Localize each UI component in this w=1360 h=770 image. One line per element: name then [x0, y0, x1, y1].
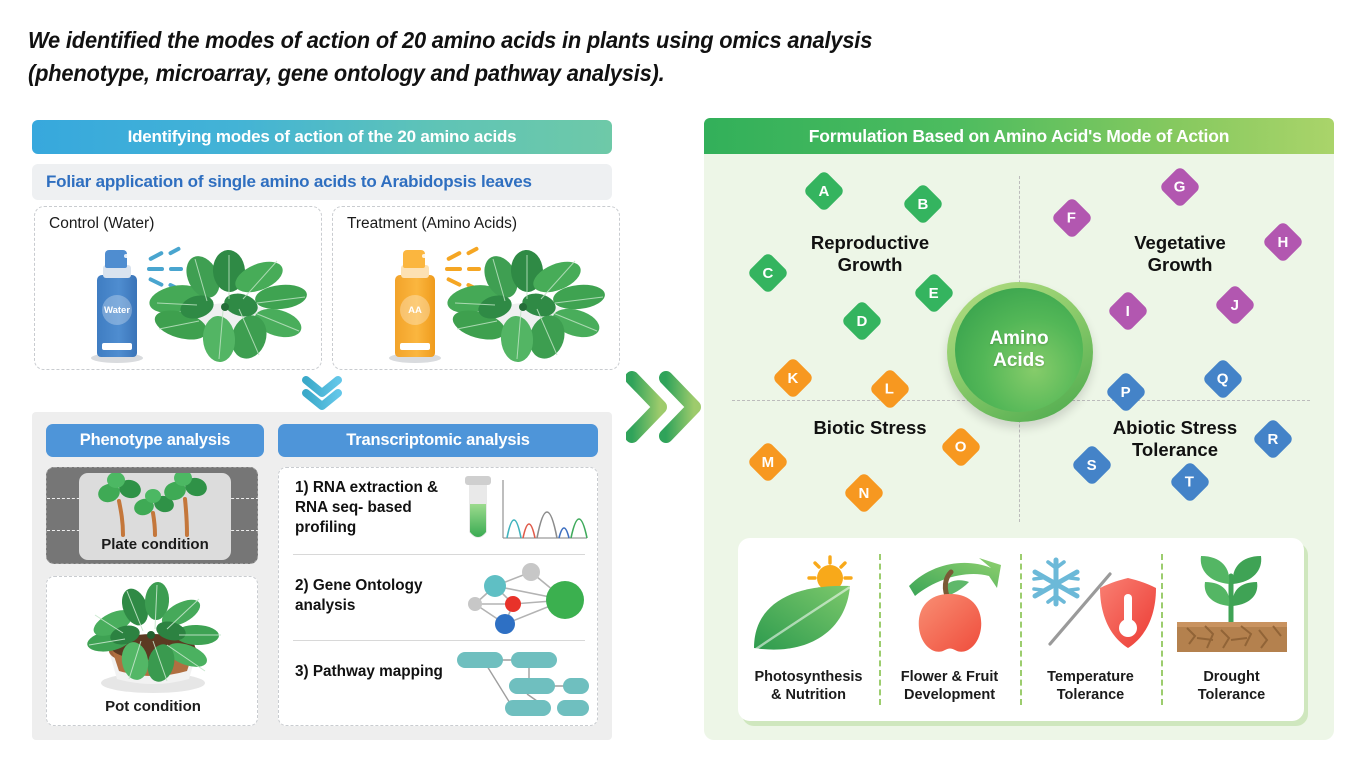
transcriptomic-step-1-label: 1) RNA extraction & RNA seq- based profi…	[295, 478, 460, 538]
pot-condition-caption: Pot condition	[47, 698, 259, 715]
pathway-map-icon	[451, 646, 591, 720]
core-label-line2: Acids	[989, 350, 1048, 372]
benefit-temperature-tolerance: Temperature Tolerance	[1020, 538, 1161, 721]
right-panel-header: Formulation Based on Amino Acid's Mode o…	[704, 118, 1334, 154]
experiment-label-treatment: Treatment (Amino Acids)	[347, 215, 517, 233]
transcriptomic-step-3: 3) Pathway mapping	[279, 640, 599, 724]
benefits-card: Photosynthesis & Nutrition	[738, 538, 1304, 721]
plant-cracked-soil-icon	[1161, 552, 1302, 660]
quadrant-label-biotic-stress: Biotic Stress	[790, 417, 950, 439]
petri-plate: Plate condition	[79, 473, 231, 560]
experiment-card-control: Control (Water) Water	[34, 206, 322, 370]
snowflake-thermometer-shield-icon	[1020, 552, 1161, 660]
pot-condition-card: Pot condition	[46, 576, 258, 726]
amino-acids-core: Amino Acids	[955, 288, 1083, 412]
quadrant-label-reproductive-growth: Reproductive Growth	[790, 232, 950, 276]
transcriptomic-analysis-title: Transcriptomic analysis	[278, 424, 598, 457]
left-panel-subheader: Foliar application of single amino acids…	[32, 164, 612, 200]
page-title: We identified the modes of action of 20 …	[28, 24, 958, 91]
plate-condition-card: Plate condition	[46, 467, 258, 564]
quadrant-label-vegetative-growth: Vegetative Growth	[1100, 232, 1260, 276]
transcriptomic-step-1: 1) RNA extraction & RNA seq- based profi…	[279, 468, 599, 554]
left-panel-header: Identifying modes of action of the 20 am…	[32, 120, 612, 154]
bottle-label-aa: AA	[408, 305, 422, 316]
arabidopsis-rosette-icon	[145, 247, 310, 362]
sun-leaf-icon	[738, 552, 879, 660]
core-label-line1: Amino	[989, 328, 1048, 350]
quadrant-label-abiotic-stress-tolerance: Abiotic Stress Tolerance	[1090, 417, 1260, 461]
potted-plant-icon	[63, 579, 243, 697]
benefit-drought-caption: Drought Tolerance	[1161, 668, 1302, 705]
test-tube-chromatogram-icon	[461, 474, 591, 548]
double-chevron-right-icon	[626, 368, 710, 446]
spray-bottle-amino-acid-icon: AA	[389, 247, 441, 359]
apple-arrow-icon	[879, 552, 1020, 660]
transcriptomic-step-2-label: 2) Gene Ontology analysis	[295, 576, 460, 616]
network-graph-icon	[461, 560, 591, 638]
arabidopsis-rosette-treated-icon	[443, 247, 608, 362]
bottle-label-water: Water	[104, 305, 130, 316]
benefit-temperature-caption: Temperature Tolerance	[1020, 668, 1161, 705]
phenotype-analysis-title: Phenotype analysis	[46, 424, 264, 457]
benefit-flower-fruit-development: Flower & Fruit Development	[879, 538, 1020, 721]
benefit-photosynthesis-nutrition: Photosynthesis & Nutrition	[738, 538, 879, 721]
seedlings-icon	[79, 473, 231, 539]
experiment-card-treatment: Treatment (Amino Acids) AA	[332, 206, 620, 370]
transcriptomic-step-2: 2) Gene Ontology analysis	[279, 554, 599, 640]
graphical-abstract: We identified the modes of action of 20 …	[0, 0, 1360, 770]
benefit-drought-tolerance: Drought Tolerance	[1161, 538, 1302, 721]
experiment-label-control: Control (Water)	[49, 215, 154, 233]
benefit-flower-fruit-caption: Flower & Fruit Development	[879, 668, 1020, 705]
transcriptomic-step-3-label: 3) Pathway mapping	[295, 662, 460, 682]
double-chevron-down-icon	[300, 374, 344, 412]
spray-bottle-water-icon: Water	[91, 247, 143, 359]
plate-condition-caption: Plate condition	[79, 536, 231, 553]
benefit-photosynthesis-caption: Photosynthesis & Nutrition	[738, 668, 879, 705]
transcriptomic-steps-card: 1) RNA extraction & RNA seq- based profi…	[278, 467, 598, 726]
